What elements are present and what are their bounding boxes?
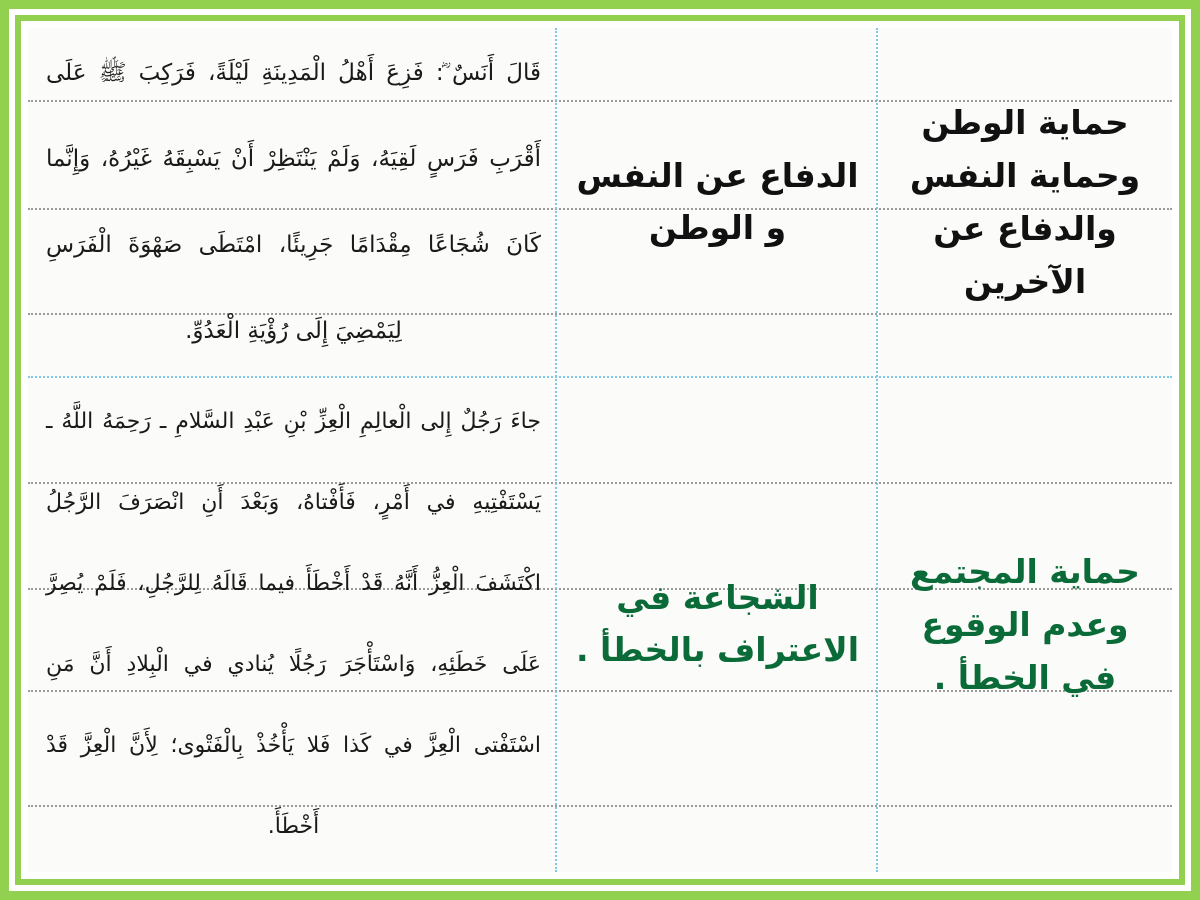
narration-text: جاءَ رَجُلٌ إِلى الْعالِمِ الْعِزِّ بْنِ… <box>46 381 541 867</box>
title-text: الدفاع عن النفس و الوطن <box>571 150 864 254</box>
narration-cell-row-2: جاءَ رَجُلٌ إِلى الْعالِمِ الْعِزِّ بْنِ… <box>28 376 557 872</box>
worksheet-page: حماية الوطن وحماية النفس والدفاع عن الآخ… <box>0 0 1200 900</box>
worksheet-sheet: حماية الوطن وحماية النفس والدفاع عن الآخ… <box>28 28 1172 872</box>
benefit-cell-row-2: حماية المجتمع وعدم الوقوع في الخطأ . <box>878 376 1172 872</box>
title-cell-row-1: الدفاع عن النفس و الوطن <box>557 28 878 376</box>
content-grid: حماية الوطن وحماية النفس والدفاع عن الآخ… <box>28 28 1172 872</box>
title-cell-row-2: الشجاعة في الاعتراف بالخطأ . <box>557 376 878 872</box>
narration-text: قَالَ أَنَسٌ ؓ: فَزِعَ أَهْلُ الْمَدِينَ… <box>46 30 541 374</box>
title-text: الشجاعة في الاعتراف بالخطأ . <box>571 572 864 676</box>
benefit-cell-row-1: حماية الوطن وحماية النفس والدفاع عن الآخ… <box>878 28 1172 376</box>
benefit-text: حماية الوطن وحماية النفس والدفاع عن الآخ… <box>892 96 1158 308</box>
narration-cell-row-1: قَالَ أَنَسٌ ؓ: فَزِعَ أَهْلُ الْمَدِينَ… <box>28 28 557 376</box>
benefit-text: حماية المجتمع وعدم الوقوع في الخطأ . <box>892 545 1158 704</box>
